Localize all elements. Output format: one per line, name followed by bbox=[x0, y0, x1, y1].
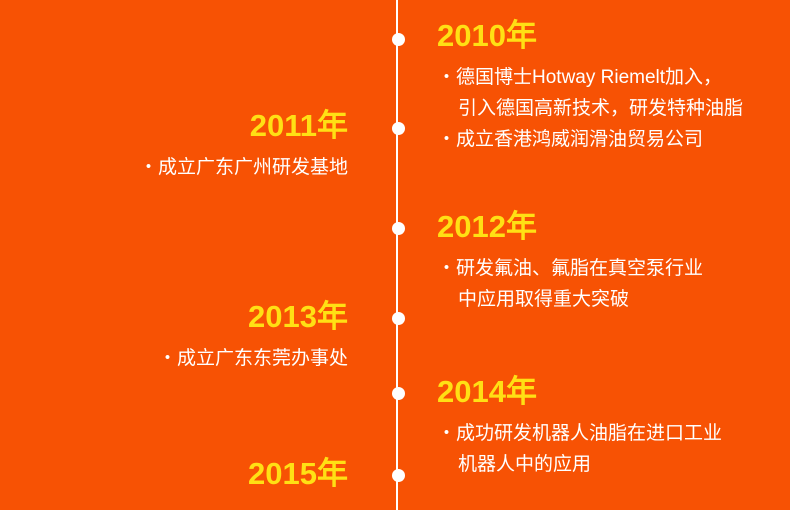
timeline-dot-4 bbox=[392, 312, 405, 325]
timeline-year-2013: 2013年 bbox=[20, 299, 348, 335]
timeline-entry-2010: 2010年 ・德国博士Hotway Riemelt加入， 引入德国高新技术，研发… bbox=[437, 18, 782, 155]
timeline-entry-2013: 2013年 ・成立广东东莞办事处 bbox=[20, 299, 348, 374]
timeline-bullet: ・研发氟油、氟脂在真空泵行业 中应用取得重大突破 bbox=[437, 253, 782, 315]
bullet-line-primary: ・研发氟油、氟脂在真空泵行业 bbox=[437, 258, 703, 279]
bullet-line-primary: ・成立香港鸿威润滑油贸易公司 bbox=[437, 129, 703, 150]
bullet-line-primary: ・成功研发机器人油脂在进口工业 bbox=[437, 423, 722, 444]
timeline-bullet: ・成立广东东莞办事处 bbox=[20, 343, 348, 374]
timeline-bullets-2011: ・成立广东广州研发基地 bbox=[20, 152, 348, 183]
bullet-line-continuation: 中应用取得重大突破 bbox=[437, 284, 782, 315]
timeline-dot-5 bbox=[392, 387, 405, 400]
timeline-year-2012: 2012年 bbox=[437, 209, 782, 245]
timeline-bullets-2010: ・德国博士Hotway Riemelt加入， 引入德国高新技术，研发特种油脂 ・… bbox=[437, 62, 782, 155]
timeline-bullet: ・德国博士Hotway Riemelt加入， 引入德国高新技术，研发特种油脂 bbox=[437, 62, 782, 124]
timeline-bullets-2013: ・成立广东东莞办事处 bbox=[20, 343, 348, 374]
timeline-year-2010: 2010年 bbox=[437, 18, 782, 54]
timeline-entry-2014: 2014年 ・成功研发机器人油脂在进口工业 机器人中的应用 bbox=[437, 374, 782, 480]
bullet-line-primary: ・成立广东广州研发基地 bbox=[139, 157, 348, 178]
timeline-dot-6 bbox=[392, 469, 405, 482]
timeline-entry-2012: 2012年 ・研发氟油、氟脂在真空泵行业 中应用取得重大突破 bbox=[437, 209, 782, 315]
bullet-line-continuation: 引入德国高新技术，研发特种油脂 bbox=[437, 93, 782, 124]
timeline-dot-1 bbox=[392, 33, 405, 46]
timeline-bullet: ・成立广东广州研发基地 bbox=[20, 152, 348, 183]
timeline-bullet: ・成功研发机器人油脂在进口工业 机器人中的应用 bbox=[437, 418, 782, 480]
timeline-entry-2015: 2015年 bbox=[20, 456, 348, 492]
bullet-line-primary: ・德国博士Hotway Riemelt加入， bbox=[437, 67, 722, 88]
timeline-bullets-2012: ・研发氟油、氟脂在真空泵行业 中应用取得重大突破 bbox=[437, 253, 782, 315]
bullet-line-primary: ・成立广东东莞办事处 bbox=[158, 348, 348, 369]
timeline-infographic: 2010年 ・德国博士Hotway Riemelt加入， 引入德国高新技术，研发… bbox=[0, 0, 790, 510]
timeline-axis-line bbox=[396, 0, 398, 510]
timeline-dot-3 bbox=[392, 222, 405, 235]
timeline-dot-2 bbox=[392, 122, 405, 135]
bullet-line-continuation: 机器人中的应用 bbox=[437, 449, 782, 480]
timeline-bullet: ・成立香港鸿威润滑油贸易公司 bbox=[437, 124, 782, 155]
timeline-year-2015: 2015年 bbox=[20, 456, 348, 492]
timeline-year-2014: 2014年 bbox=[437, 374, 782, 410]
timeline-bullets-2014: ・成功研发机器人油脂在进口工业 机器人中的应用 bbox=[437, 418, 782, 480]
timeline-year-2011: 2011年 bbox=[20, 108, 348, 144]
timeline-entry-2011: 2011年 ・成立广东广州研发基地 bbox=[20, 108, 348, 183]
